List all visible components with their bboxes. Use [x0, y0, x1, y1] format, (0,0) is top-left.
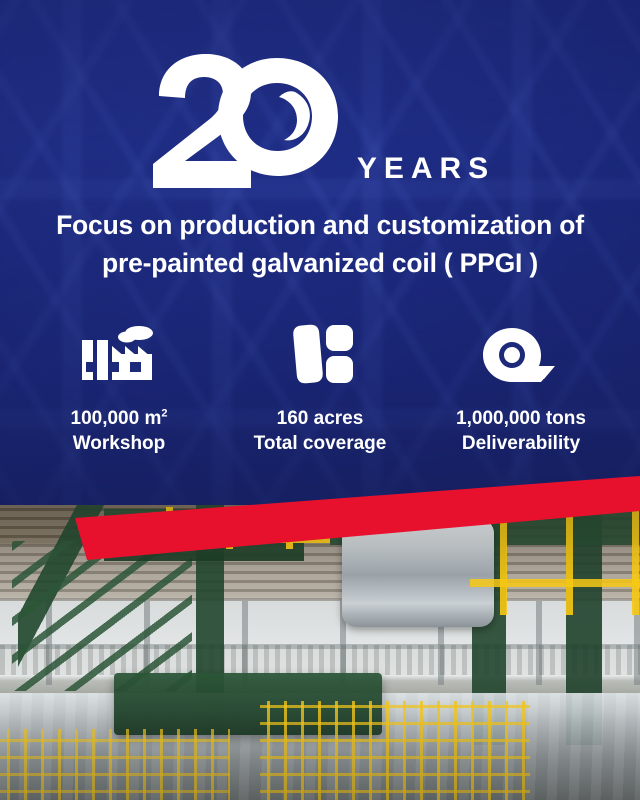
land-plot-icon — [285, 322, 355, 384]
land-plot-icon-glyph — [285, 324, 355, 384]
steel-coil-icon-glyph — [481, 326, 561, 384]
stats-row: 100,000 m2 Workshop 160 acres Total cove… — [0, 322, 640, 456]
anniversary-banner: YEARS Focus on production and customizat… — [0, 0, 640, 800]
stat-value-superscript: 2 — [161, 408, 167, 420]
stat-value-text: 1,000,000 tons — [456, 408, 586, 429]
stat-value: 1,000,000 tons — [456, 406, 586, 431]
stat-value-text: 100,000 m — [71, 408, 162, 429]
stat-value: 100,000 m2 — [71, 406, 168, 431]
stat-label: Total coverage — [254, 431, 387, 456]
stat-value-text: 160 acres — [277, 408, 364, 429]
stat-total-coverage: 160 acres Total coverage — [223, 322, 417, 456]
years-label: YEARS — [357, 154, 495, 184]
factory-icon — [76, 322, 162, 384]
headline-line-1: Focus on production and customization of — [22, 207, 618, 245]
stat-label: Workshop — [73, 431, 166, 456]
steel-coil-icon — [481, 322, 561, 384]
factory-production-line-photo — [0, 505, 640, 800]
photo-shading — [0, 505, 640, 800]
headline-line-2: pre-painted galvanized coil ( PPGI ) — [22, 245, 618, 283]
factory-icon-glyph — [76, 324, 162, 384]
anniversary-logo: YEARS — [0, 52, 640, 192]
stat-value: 160 acres — [277, 406, 364, 431]
stat-label: Deliverability — [462, 431, 580, 456]
headline: Focus on production and customization of… — [0, 207, 640, 282]
stat-workshop: 100,000 m2 Workshop — [22, 322, 216, 456]
stat-deliverability: 1,000,000 tons Deliverability — [424, 322, 618, 456]
twenty-monogram-icon — [145, 52, 345, 192]
